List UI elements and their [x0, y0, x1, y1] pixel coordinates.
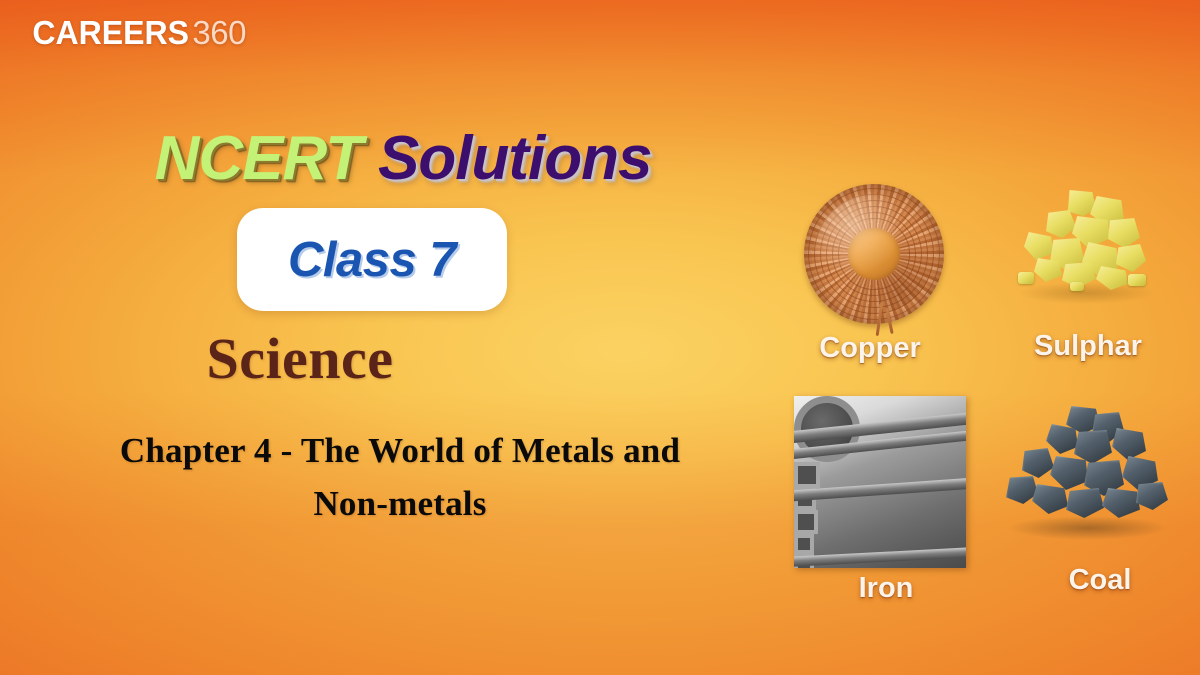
coal-lumps-icon [1004, 404, 1172, 542]
class-badge-label: Class 7 [288, 232, 456, 288]
headline: NCERTSolutions [0, 128, 800, 190]
specimen-copper: Copper [780, 170, 980, 385]
chapter-title-line-2: Non-metals [0, 477, 800, 530]
logo-secondary-text: 360 [192, 14, 246, 52]
specimen-grid: Copper Sulphar [780, 170, 1200, 610]
specimen-coal: Coal [988, 392, 1188, 610]
poster-canvas: CAREERS 360 NCERTSolutions Class 7 Scien… [0, 0, 1200, 675]
logo-primary-text: CAREERS [32, 14, 189, 52]
specimen-sulphar: Sulphar [988, 170, 1188, 385]
headline-word-ncert: NCERT [155, 124, 362, 193]
headline-word-solutions: Solutions [378, 124, 651, 193]
chapter-title-line-1: Chapter 4 - The World of Metals and [120, 431, 680, 470]
subject-title: Science [0, 325, 600, 392]
specimen-copper-label: Copper [819, 332, 921, 365]
careers360-logo[interactable]: CAREERS 360 [30, 14, 246, 52]
iron-pipes-icon [794, 396, 966, 568]
sulphur-chunks-icon [1010, 186, 1166, 318]
specimen-iron-label: Iron [859, 572, 914, 605]
specimen-coal-label: Coal [1069, 564, 1132, 597]
specimen-sulphar-label: Sulphar [1034, 330, 1142, 363]
copper-wire-coil-icon [804, 184, 944, 324]
title-block: NCERTSolutions Class 7 Science Chapter 4… [0, 128, 800, 530]
specimen-iron: Iron [780, 392, 980, 610]
chapter-title: Chapter 4 - The World of Metals and Non-… [0, 424, 800, 530]
class-badge: Class 7 [237, 208, 507, 311]
